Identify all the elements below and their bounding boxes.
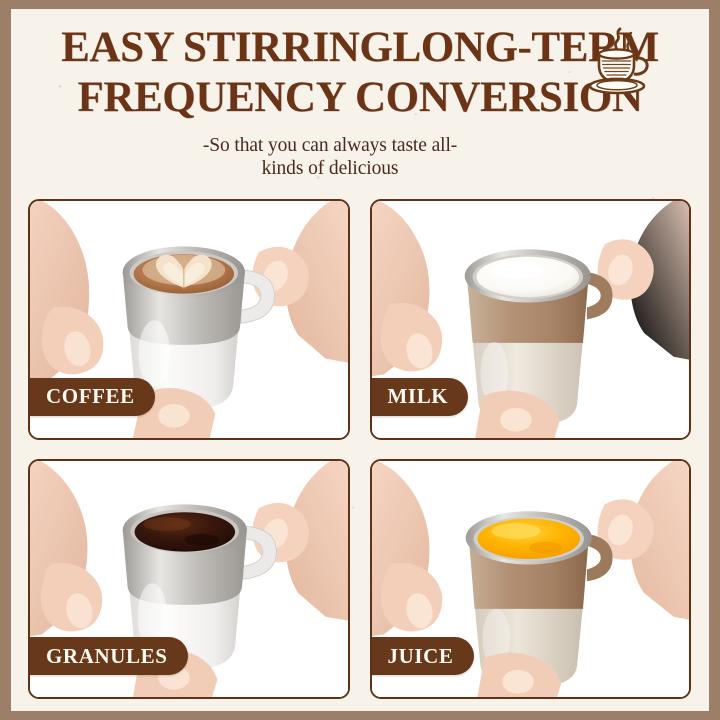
poster-paper-background: EASY STIRRINGLONG-TERM FREQUENCY CONVERS… [11, 9, 709, 711]
subtitle-line-2: kinds of delicious [71, 157, 589, 180]
status-badge-granules: GRANULES [28, 637, 188, 675]
panel-milk[interactable]: MILK [370, 199, 692, 440]
black-coffee-surface [135, 512, 236, 551]
status-badge-juice: JUICE [370, 637, 474, 675]
badge-label-milk: MILK [388, 384, 449, 409]
product-panel-grid: COFFEE [11, 199, 709, 699]
subtitle-line-1: -So that you can always taste all- [71, 134, 589, 157]
panel-granules[interactable]: GRANULES [28, 459, 350, 700]
product-poster: EASY STIRRINGLONG-TERM FREQUENCY CONVERS… [0, 0, 720, 720]
poster-header: EASY STIRRINGLONG-TERM FREQUENCY CONVERS… [11, 9, 709, 199]
badge-label-juice: JUICE [388, 644, 454, 669]
cup-handle [634, 58, 647, 74]
badge-label-granules: GRANULES [46, 644, 168, 669]
status-badge-coffee: COFFEE [28, 378, 155, 416]
status-badge-milk: MILK [370, 378, 469, 416]
badge-label-coffee: COFFEE [46, 384, 135, 409]
panel-coffee[interactable]: COFFEE [28, 199, 350, 440]
panel-juice[interactable]: JUICE [370, 459, 692, 700]
coffee-cup-icon [580, 23, 662, 101]
page-subtitle: -So that you can always taste all- kinds… [11, 134, 709, 180]
